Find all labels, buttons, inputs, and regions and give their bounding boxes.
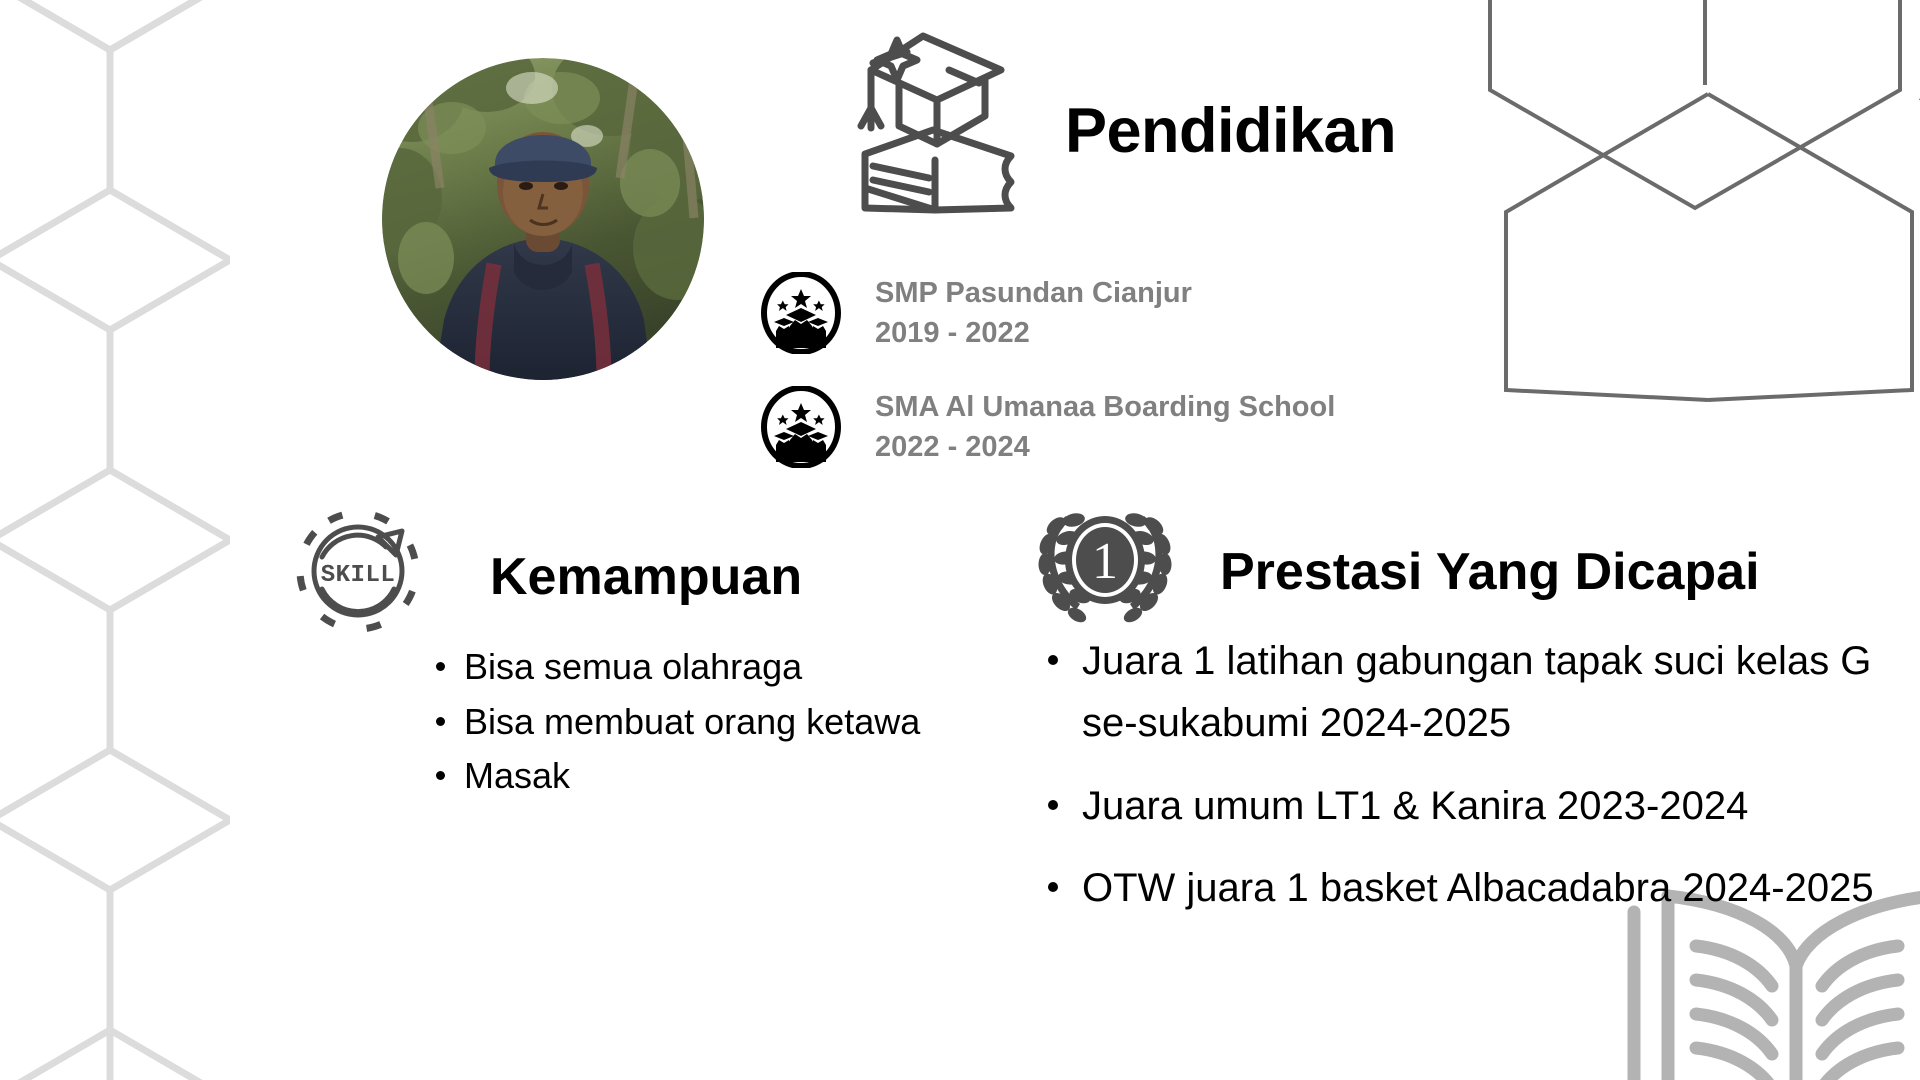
graduation-cap-books-icon — [845, 30, 1025, 215]
skills-header: SKILL Kemampuan — [292, 505, 802, 637]
hexagon-outline-pattern-icon — [1450, 0, 1920, 430]
slide-canvas: Pendidikan — [0, 0, 1920, 1080]
list-item: OTW juara 1 basket Albacadabra 2024-2025 — [1040, 857, 1900, 919]
list-item: Bisa semua olahraga — [430, 640, 1070, 695]
education-entry: SMP Pasundan Cianjur 2019 - 2022 — [760, 272, 1335, 354]
graduates-circle-icon — [760, 272, 842, 354]
education-school-name: SMA Al Umanaa Boarding School — [875, 387, 1335, 427]
achievements-title: Prestasi Yang Dicapai — [1220, 542, 1760, 602]
list-item: Juara umum LT1 & Kanira 2023-2024 — [1040, 775, 1900, 837]
education-years: 2022 - 2024 — [875, 427, 1335, 467]
skill-gauge-icon: SKILL — [292, 505, 424, 637]
skills-title: Kemampuan — [490, 547, 802, 607]
education-school-name: SMP Pasundan Cianjur — [875, 273, 1192, 313]
graduates-circle-icon — [760, 386, 842, 468]
laurel-wreath-medal-icon: 1 — [1030, 500, 1180, 632]
achievements-list: Juara 1 latihan gabungan tapak suci kela… — [1040, 630, 1900, 940]
education-years: 2019 - 2022 — [875, 313, 1192, 353]
list-item: Bisa membuat orang ketawa — [430, 695, 1070, 750]
education-entry: SMA Al Umanaa Boarding School 2022 - 202… — [760, 386, 1335, 468]
achievements-header: 1 Prestasi Yang Dicapai — [1030, 500, 1760, 632]
avatar — [382, 58, 704, 380]
education-title: Pendidikan — [1065, 95, 1396, 167]
skills-list: Bisa semua olahraga Bisa membuat orang k… — [430, 640, 1070, 804]
skill-icon-label: SKILL — [321, 562, 396, 589]
education-list: SMP Pasundan Cianjur 2019 - 2022 — [760, 272, 1335, 468]
list-item: Masak — [430, 749, 1070, 804]
medal-number: 1 — [1092, 533, 1118, 590]
education-header: Pendidikan — [845, 30, 1396, 215]
list-item: Juara 1 latihan gabungan tapak suci kela… — [1040, 630, 1900, 755]
hexagon-lattice-pattern-icon — [0, 0, 230, 1080]
